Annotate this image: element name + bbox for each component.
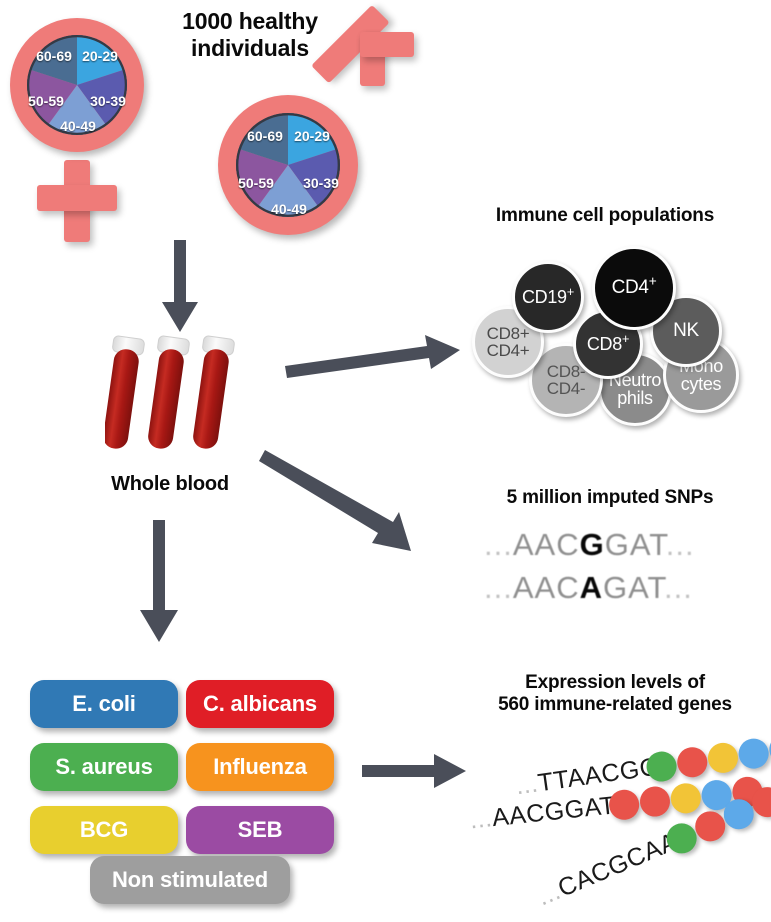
gene-bead [669, 782, 702, 815]
gene-bead [737, 737, 771, 771]
strand-sequence: ...CACGCAA [533, 827, 682, 912]
immune-cell-cd4: CD4+ [592, 246, 676, 330]
gene-bead [675, 745, 709, 779]
immune-cell-label: NK [673, 321, 699, 340]
figure-canvas: 20-29 30-39 40-49 50-59 60-69 20-29 30-3… [0, 0, 771, 922]
strand-prefix: ... [514, 770, 540, 801]
gene-bead [706, 741, 740, 775]
gene-expression-strands: ...TTAACGG...AACGGAT...CACGCAA [0, 0, 771, 922]
immune-cell-label: CD19+ [522, 288, 574, 306]
gene-bead [638, 785, 671, 818]
strand-sequence: ...AACGGAT [468, 791, 616, 835]
immune-cell-label: CD8+ CD4+ [487, 325, 530, 360]
strand-prefix: ... [468, 804, 493, 834]
immune-cell-label: CD8+ [587, 335, 629, 353]
immune-cell-label: CD4+ [612, 278, 657, 297]
immune-cell-label: CD8- CD4- [547, 363, 585, 398]
immune-cell-cd19: CD19+ [512, 261, 584, 333]
strand-prefix: ... [533, 877, 565, 912]
